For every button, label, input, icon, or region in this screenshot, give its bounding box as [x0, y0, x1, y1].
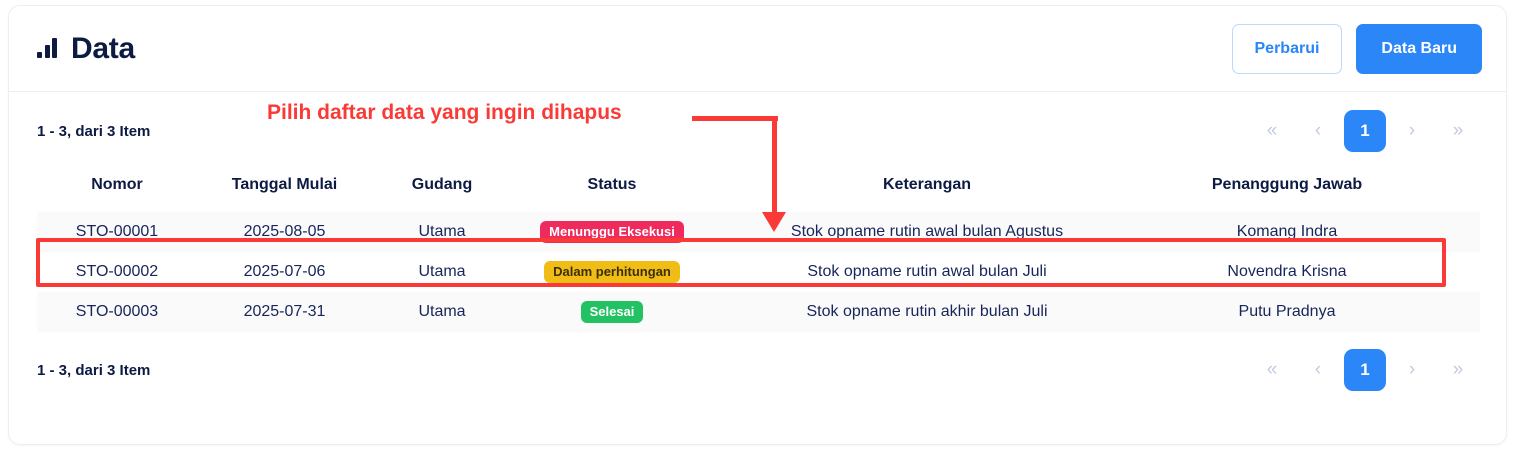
card-header-title-group: Data	[37, 32, 135, 66]
bar-chart-icon	[37, 38, 57, 60]
data-card: Data Perbarui Data Baru 1 - 3, dari 3 It…	[8, 5, 1507, 445]
cell-penanggung-jawab: Putu Pradnya	[1142, 292, 1432, 332]
status-badge: Selesai	[581, 301, 644, 324]
pagination-prev-button-bottom[interactable]: ‹	[1298, 351, 1338, 389]
table-row[interactable]: STO-00003 2025-07-31 Utama Selesai Stok …	[37, 292, 1480, 332]
table-header: Nomor Tanggal Mulai Gudang Status Ketera…	[37, 170, 1480, 212]
column-header-penanggung-jawab[interactable]: Penanggung Jawab	[1142, 170, 1432, 212]
cell-gudang: Utama	[372, 292, 512, 332]
card-body: 1 - 3, dari 3 Item « ‹ 1 › »	[9, 92, 1506, 408]
cell-keterangan: Stok opname rutin akhir bulan Juli	[712, 292, 1142, 332]
cell-status: Selesai	[512, 292, 712, 332]
pagination-first-button-top[interactable]: «	[1252, 112, 1292, 150]
cell-status: Menunggu Eksekusi	[512, 212, 712, 252]
pagination-first-button-bottom[interactable]: «	[1252, 351, 1292, 389]
column-header-keterangan[interactable]: Keterangan	[712, 170, 1142, 212]
cell-actions	[1432, 292, 1480, 332]
column-header-tanggal-mulai[interactable]: Tanggal Mulai	[197, 170, 372, 212]
cell-gudang: Utama	[372, 212, 512, 252]
table-container: Nomor Tanggal Mulai Gudang Status Ketera…	[33, 170, 1482, 332]
pagination-next-button-bottom[interactable]: ›	[1392, 351, 1432, 389]
cell-nomor: STO-00003	[37, 292, 197, 332]
pagination-prev-button-top[interactable]: ‹	[1298, 112, 1338, 150]
table-row[interactable]: STO-00002 2025-07-06 Utama Dalam perhitu…	[37, 252, 1480, 292]
status-badge: Dalam perhitungan	[544, 261, 680, 284]
card-header: Data Perbarui Data Baru	[9, 6, 1506, 92]
cell-status: Dalam perhitungan	[512, 252, 712, 292]
column-header-status[interactable]: Status	[512, 170, 712, 212]
cell-tanggal: 2025-08-05	[197, 212, 372, 252]
pagination-page-1-bottom[interactable]: 1	[1344, 349, 1386, 391]
status-badge: Menunggu Eksekusi	[540, 221, 684, 244]
cell-actions	[1432, 212, 1480, 252]
pagination-page-1-top[interactable]: 1	[1344, 110, 1386, 152]
cell-actions	[1432, 252, 1480, 292]
pagination-last-button-bottom[interactable]: »	[1438, 351, 1478, 389]
cell-nomor: STO-00001	[37, 212, 197, 252]
cell-tanggal: 2025-07-31	[197, 292, 372, 332]
pagination-next-button-top[interactable]: ›	[1392, 112, 1432, 150]
cell-keterangan: Stok opname rutin awal bulan Juli	[712, 252, 1142, 292]
table-body: STO-00001 2025-08-05 Utama Menunggu Ekse…	[37, 212, 1480, 332]
pagination-bottom: « ‹ 1 › »	[1252, 349, 1478, 391]
cell-gudang: Utama	[372, 252, 512, 292]
cell-penanggung-jawab: Komang Indra	[1142, 212, 1432, 252]
page-title: Data	[71, 32, 135, 66]
column-header-actions	[1432, 170, 1480, 212]
header-actions: Perbarui Data Baru	[1232, 24, 1483, 74]
toolbar-top: 1 - 3, dari 3 Item « ‹ 1 › »	[33, 92, 1482, 170]
toolbar-bottom: 1 - 3, dari 3 Item « ‹ 1 › »	[33, 332, 1482, 408]
table-header-row: Nomor Tanggal Mulai Gudang Status Ketera…	[37, 170, 1480, 212]
item-count-label-top: 1 - 3, dari 3 Item	[37, 123, 150, 140]
table-row[interactable]: STO-00001 2025-08-05 Utama Menunggu Ekse…	[37, 212, 1480, 252]
refresh-button[interactable]: Perbarui	[1232, 24, 1343, 74]
column-header-gudang[interactable]: Gudang	[372, 170, 512, 212]
data-table: Nomor Tanggal Mulai Gudang Status Ketera…	[37, 170, 1480, 332]
item-count-label-bottom: 1 - 3, dari 3 Item	[37, 362, 150, 379]
column-header-nomor[interactable]: Nomor	[37, 170, 197, 212]
cell-keterangan: Stok opname rutin awal bulan Agustus	[712, 212, 1142, 252]
cell-tanggal: 2025-07-06	[197, 252, 372, 292]
cell-nomor: STO-00002	[37, 252, 197, 292]
pagination-last-button-top[interactable]: »	[1438, 112, 1478, 150]
screenshot-root: Data Perbarui Data Baru 1 - 3, dari 3 It…	[0, 0, 1515, 452]
pagination-top: « ‹ 1 › »	[1252, 110, 1478, 152]
new-data-button[interactable]: Data Baru	[1356, 24, 1482, 74]
cell-penanggung-jawab: Novendra Krisna	[1142, 252, 1432, 292]
